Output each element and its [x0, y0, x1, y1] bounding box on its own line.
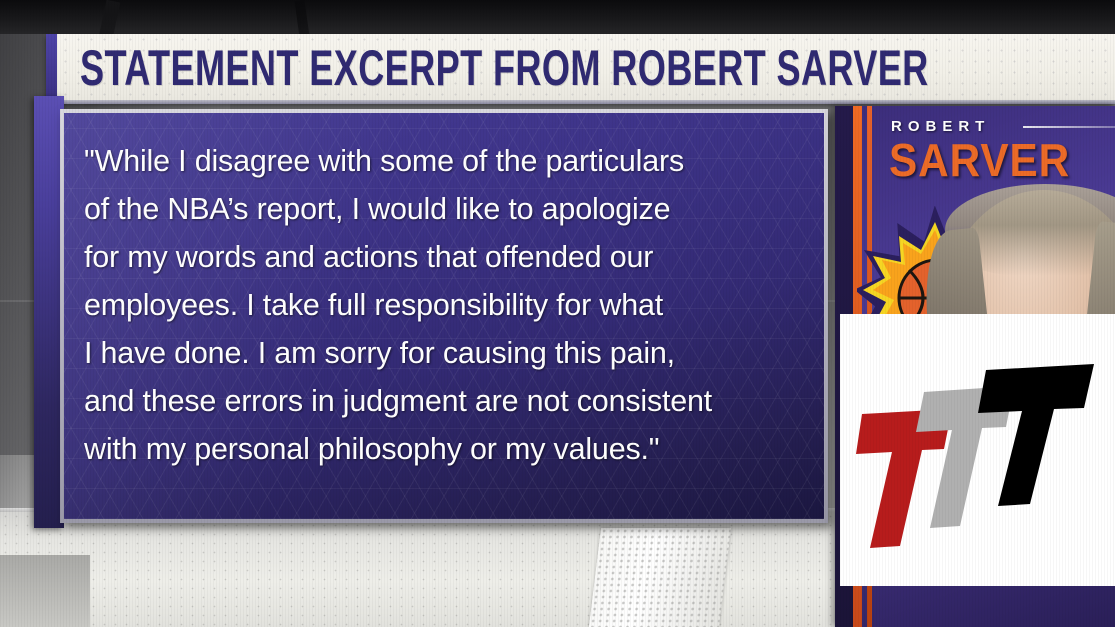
subject-last-name: SARVER: [889, 133, 1070, 187]
quote-card-frame: "While I disagree with some of the parti…: [60, 109, 828, 523]
statement-quote-text: "While I disagree with some of the parti…: [84, 137, 810, 473]
studio-desk-metal-strip: [589, 528, 731, 627]
ttt-watermark-logo: [840, 314, 1115, 586]
quote-card: "While I disagree with some of the parti…: [64, 113, 824, 519]
broadcast-screen: STATEMENT EXCERPT FROM ROBERT SARVER "Wh…: [0, 0, 1115, 627]
headline-underline: [46, 100, 1115, 104]
headline-accent-bar: [46, 34, 57, 103]
studio-desk-left-block: [0, 555, 90, 627]
page-title: STATEMENT EXCERPT FROM ROBERT SARVER: [80, 36, 867, 102]
ttt-letter-black: [978, 364, 1094, 506]
subject-name-rule: [1023, 126, 1115, 128]
